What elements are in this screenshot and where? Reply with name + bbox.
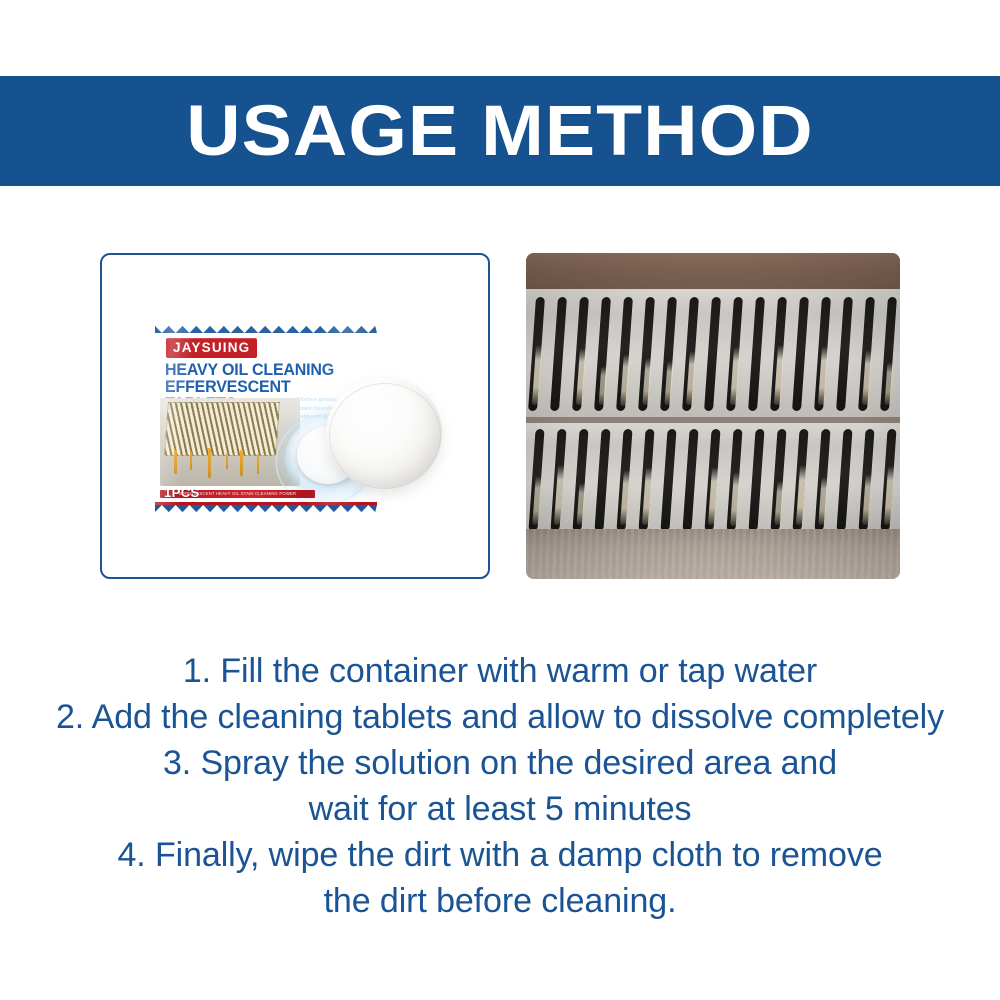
page-title: USAGE METHOD [186,96,813,167]
tablet-edge [329,383,441,489]
grill-slot [550,297,567,411]
grill-slot [595,429,611,531]
grill-slot [683,429,699,531]
media-row: JAYSUING HEAVY OIL CLEANING EFFERVESCENT… [0,253,1000,579]
grease-drip [190,452,192,470]
grill-slot [792,297,809,411]
instruction-line-4: wait for at least 5 minutes [0,786,1000,832]
product-image-card: JAYSUING HEAVY OIL CLEANING EFFERVESCENT… [100,253,490,579]
instruction-line-3: 3. Spray the solution on the desired are… [0,740,1000,786]
grill-slot [836,297,853,411]
instruction-line-1: 1. Fill the container with warm or tap w… [0,648,1000,694]
instructions-block: 1. Fill the container with warm or tap w… [0,648,1000,924]
package-quantity-label: 1PCS [164,485,200,500]
grill-slot [837,429,853,531]
grease-drip [174,450,177,474]
photo-top-band [526,253,900,293]
package-serrated-top-edge [155,322,377,333]
effervescent-tablet [326,377,442,489]
instruction-line-5: 4. Finally, wipe the dirt with a damp cl… [0,832,1000,878]
grill-slot [749,429,765,531]
dirty-grill-photo [526,253,900,579]
grill-slot [748,297,765,411]
instruction-line-2: 2. Add the cleaning tablets and allow to… [0,694,1000,740]
package-bottom-stripe [155,502,377,505]
usage-method-page: USAGE METHOD JAYSUING HEAVY OIL CLEANING… [0,0,1000,1000]
grill-panel-upper [526,289,900,417]
package-title-line-1: HEAVY OIL CLEANING [165,362,364,379]
package-serrated-bottom-edge [155,505,377,516]
grease-drip [240,450,243,476]
grill-slot [704,297,721,411]
grill-slot [661,429,677,531]
instruction-line-6: the dirt before cleaning. [0,878,1000,924]
grease-drip [226,453,228,469]
header-banner: USAGE METHOD [0,76,1000,186]
grease-drip [257,454,259,474]
grease-drip [208,448,211,478]
photo-bottom-band [526,529,900,579]
grill-panel-lower [526,423,900,535]
package-brand-badge: JAYSUING [166,338,257,358]
package-art-grill [164,402,280,456]
